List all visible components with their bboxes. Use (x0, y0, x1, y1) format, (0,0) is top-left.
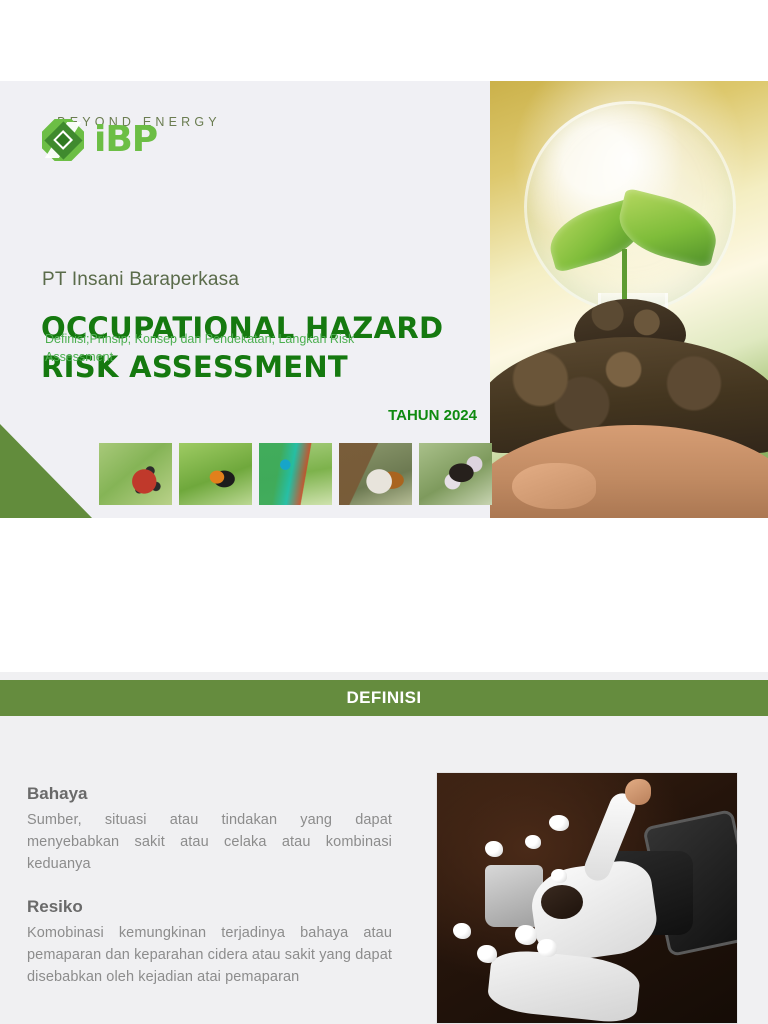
thumbnail-leaf-beetle (179, 443, 252, 505)
thumbnail-wasp-nest (339, 443, 412, 505)
brand-logo-text: iBP (94, 122, 157, 158)
accident-photo-fallen-office-worker (436, 772, 738, 1024)
definition-heading-resiko: Resiko (27, 897, 392, 917)
hero-photo-lightbulb-plant-in-soil (490, 81, 768, 518)
thumbnail-spotted-moth (419, 443, 492, 505)
plant-stem (622, 249, 627, 299)
definition-text-bahaya: Sumber, situasi atau tindakan yang dapat… (27, 809, 392, 875)
definition-heading-bahaya: Bahaya (27, 784, 392, 804)
year-label: TAHUN 2024 (0, 407, 477, 424)
thumb-finger (512, 463, 596, 509)
photo-paper-wad (515, 925, 537, 945)
brand-logo[interactable]: iBP (42, 119, 157, 161)
title-slide: iBP PT Insani Baraperkasa OCCUPATIONAL H… (0, 81, 768, 518)
definitions-text-column: Bahaya Sumber, situasi atau tindakan yan… (27, 784, 392, 1010)
definition-text-resiko: Komobinasi kemungkinan terjadinya bahaya… (27, 922, 392, 988)
insect-thumbnail-strip (99, 443, 492, 505)
photo-paper-wad (537, 939, 557, 957)
section-header-title: DEFINISI (347, 688, 422, 708)
photo-paper-wad (549, 815, 569, 831)
photo-paper-wad (485, 841, 503, 857)
thumbnail-ladybug (99, 443, 172, 505)
photo-paper-wad (453, 923, 471, 939)
thumbnail-damselfly (259, 443, 332, 505)
page-subtitle: Definisi;Prinsip; Konsep dan Pendekatan;… (45, 330, 425, 366)
section-header-band: DEFINISI (0, 680, 768, 716)
photo-paper-wad (477, 945, 497, 963)
company-name: PT Insani Baraperkasa (42, 269, 239, 291)
photo-person-head (541, 885, 583, 919)
photo-person-hand (625, 779, 651, 805)
ibp-diamond-icon (42, 119, 84, 161)
photo-paper-wad (525, 835, 541, 849)
photo-paper-wad (551, 869, 567, 883)
